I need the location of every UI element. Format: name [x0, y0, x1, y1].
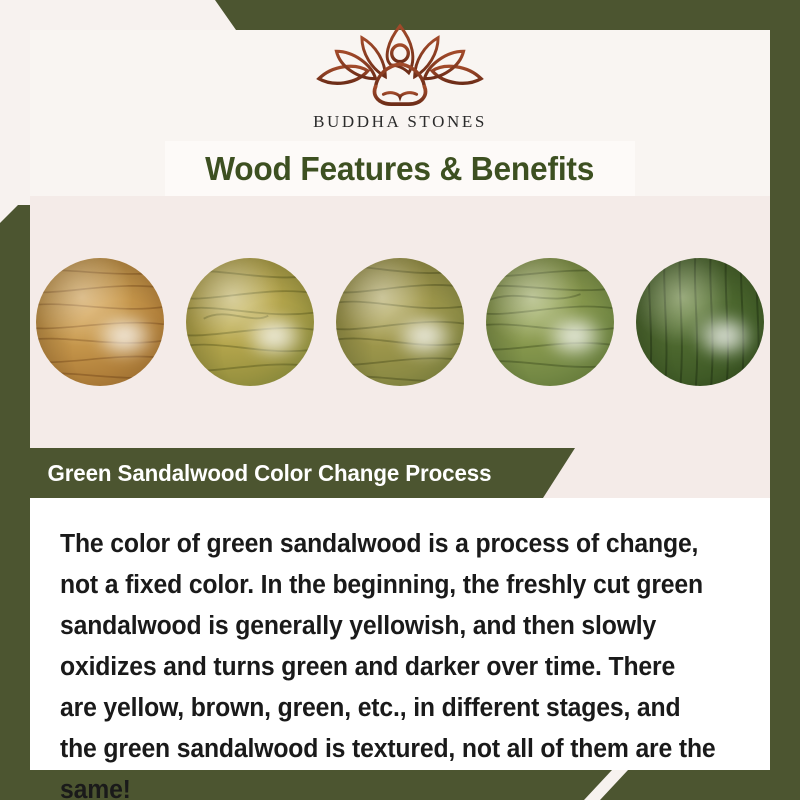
page-title: Wood Features & Benefits: [205, 150, 594, 188]
brand-logo: BUDDHA STONES: [0, 0, 800, 132]
bead-highlight: [545, 314, 604, 358]
bead-highlight: [245, 314, 304, 358]
bead-highlight: [395, 314, 454, 358]
description-paragraph: The color of green sandalwood is a proce…: [60, 524, 718, 800]
bead-stage-2: [186, 258, 314, 386]
bead-stage-3: [336, 258, 464, 386]
lotus-meditation-icon: [307, 22, 493, 108]
poster-root: BUDDHA STONES Wood Features & Benefits: [0, 0, 800, 800]
bead-stage-5: [636, 258, 764, 386]
poster-canvas: BUDDHA STONES Wood Features & Benefits: [0, 0, 800, 800]
bead-stage-1: [36, 258, 164, 386]
bead-highlight: [95, 314, 154, 358]
section-banner-label: Green Sandalwood Color Change Process: [30, 460, 491, 487]
description-card: The color of green sandalwood is a proce…: [30, 498, 770, 770]
bead-gallery: [30, 196, 770, 448]
page-title-band: Wood Features & Benefits: [165, 141, 635, 196]
bead-highlight: [695, 314, 754, 358]
brand-name: BUDDHA STONES: [0, 112, 800, 132]
section-banner: Green Sandalwood Color Change Process: [30, 448, 575, 498]
frame-border-left: [0, 205, 30, 800]
bead-stage-4: [486, 258, 614, 386]
